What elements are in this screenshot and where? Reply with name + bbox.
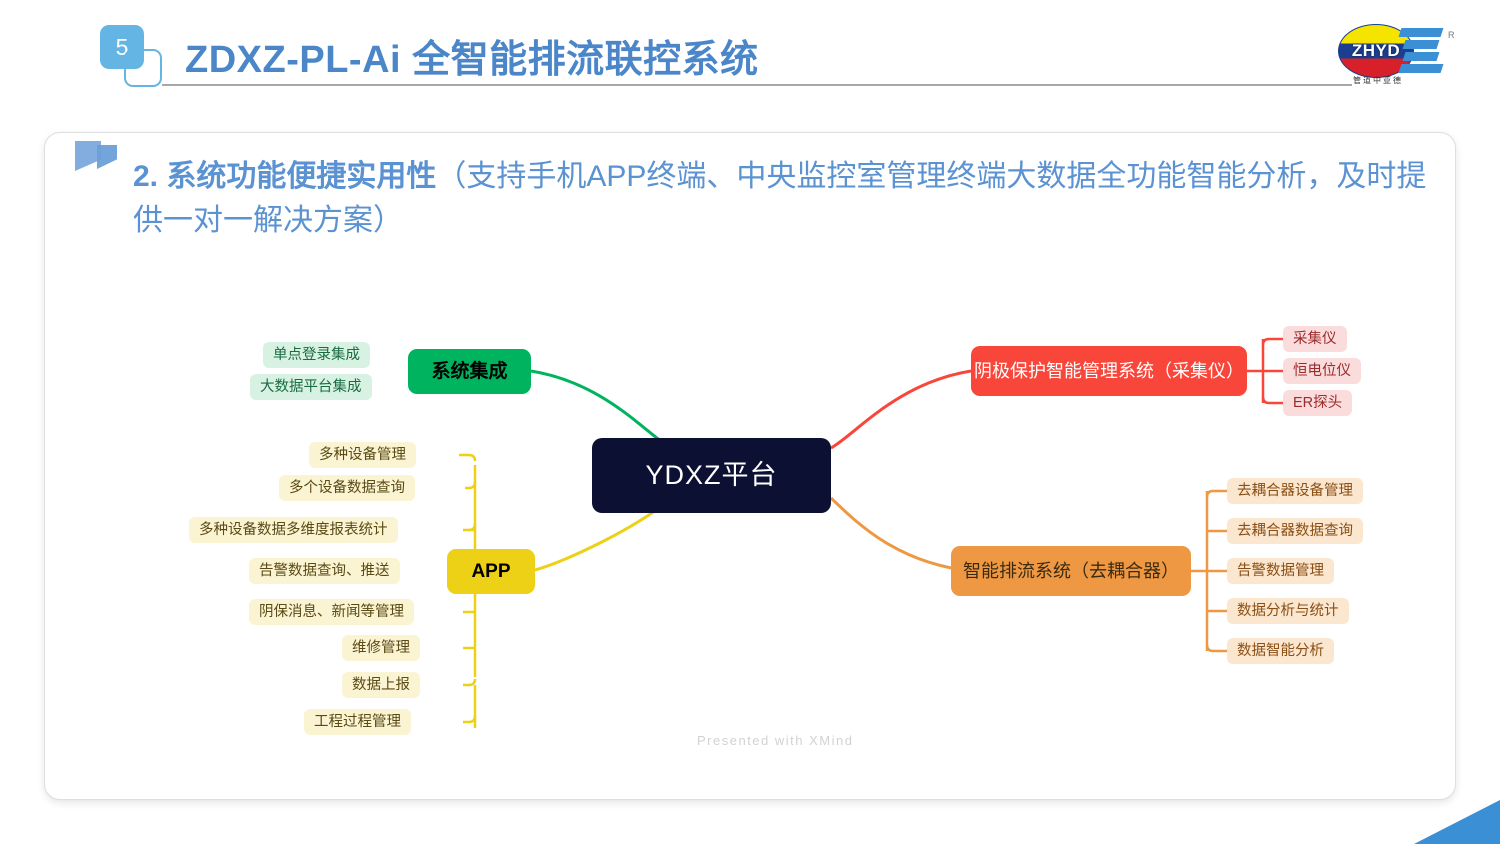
mindmap-branch-app[interactable]: APP — [447, 549, 535, 594]
mindmap-leaf-cp-news-management[interactable]: 阴保消息、新闻等管理 — [249, 599, 414, 625]
mindmap-leaf-intelligent-data-analysis[interactable]: 数据智能分析 — [1227, 638, 1334, 664]
company-logo: ZHYD 管道中亚德 R — [1334, 18, 1454, 88]
content-card: 2. 系统功能便捷实用性（支持手机APP终端、中央监控室管理终端大数据全功能智能… — [44, 132, 1456, 800]
mindmap: YDXZ平台 系统集成 单点登录集成 大数据平台集成 APP 多种设备管理 多个… — [45, 233, 1457, 801]
mindmap-leaf-multi-device-data-query[interactable]: 多个设备数据查询 — [279, 475, 415, 501]
mindmap-branch-system-integration[interactable]: 系统集成 — [408, 349, 531, 394]
slide-number-outline-square — [124, 49, 162, 87]
logo-stripes-icon — [1400, 26, 1444, 76]
slide-number-badge: 5 — [100, 25, 170, 91]
mindmap-leaf-decoupler-device-management[interactable]: 去耦合器设备管理 — [1227, 478, 1363, 504]
mindmap-branch-smart-drainage[interactable]: 智能排流系统（去耦合器） — [951, 546, 1191, 596]
mindmap-leaf-collector[interactable]: 采集仪 — [1283, 326, 1347, 352]
section-subtitle-bold: 2. 系统功能便捷实用性 — [133, 160, 436, 193]
registered-mark-icon: R — [1448, 30, 1455, 40]
section-subtitle: 2. 系统功能便捷实用性（支持手机APP终端、中央监控室管理终端大数据全功能智能… — [133, 155, 1433, 242]
mindmap-leaf-multidim-report-statistics[interactable]: 多种设备数据多维度报表统计 — [189, 517, 398, 543]
mindmap-leaf-maintenance-management[interactable]: 维修管理 — [342, 635, 420, 661]
mindmap-leaf-potentiostat[interactable]: 恒电位仪 — [1283, 358, 1361, 384]
xmind-watermark: Presented with XMind — [697, 733, 853, 748]
mindmap-center-node[interactable]: YDXZ平台 — [592, 438, 831, 513]
corner-flag-icon — [75, 141, 119, 181]
corner-accent-triangle — [1414, 800, 1500, 844]
slide-header: 5 ZDXZ-PL-Ai 全智能排流联控系统 ZHYD 管道中亚德 R — [0, 0, 1500, 110]
mindmap-leaf-data-reporting[interactable]: 数据上报 — [342, 672, 420, 698]
logo-subtext: 管道中亚德 — [1340, 75, 1416, 86]
title-divider — [162, 84, 1352, 86]
mindmap-leaf-data-analysis-statistics[interactable]: 数据分析与统计 — [1227, 598, 1349, 624]
mindmap-leaf-multi-device-management[interactable]: 多种设备管理 — [309, 442, 416, 468]
mindmap-leaf-alarm-data-query-push[interactable]: 告警数据查询、推送 — [249, 558, 400, 584]
slide: 5 ZDXZ-PL-Ai 全智能排流联控系统 ZHYD 管道中亚德 R 2. 系… — [0, 0, 1500, 844]
mindmap-leaf-sso-integration[interactable]: 单点登录集成 — [263, 342, 370, 368]
page-title: ZDXZ-PL-Ai 全智能排流联控系统 — [185, 28, 759, 83]
mindmap-leaf-er-probe[interactable]: ER探头 — [1283, 390, 1352, 416]
mindmap-leaf-project-process-management[interactable]: 工程过程管理 — [304, 709, 411, 735]
mindmap-leaf-bigdata-platform-integration[interactable]: 大数据平台集成 — [250, 374, 372, 400]
mindmap-leaf-decoupler-data-query[interactable]: 去耦合器数据查询 — [1227, 518, 1363, 544]
mindmap-leaf-alarm-data-management[interactable]: 告警数据管理 — [1227, 558, 1334, 584]
mindmap-branch-cathodic-protection[interactable]: 阴极保护智能管理系统（采集仪） — [971, 346, 1247, 396]
